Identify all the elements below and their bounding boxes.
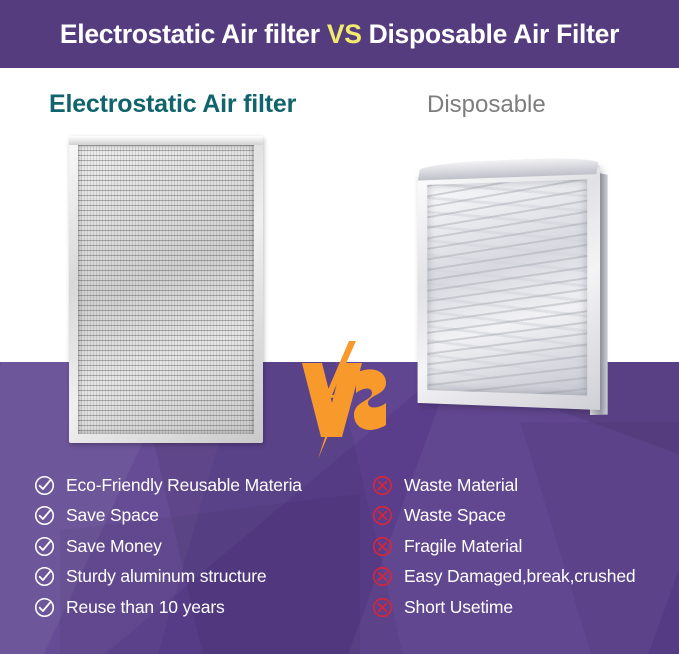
list-item-label: Short Usetime bbox=[404, 599, 513, 617]
list-item: Save Space bbox=[33, 501, 339, 532]
infographic-page: Electrostatic Air filter VS Disposable A… bbox=[0, 0, 679, 654]
list-item: Fragile Material bbox=[371, 531, 678, 562]
list-item-label: Sturdy aluminum structure bbox=[66, 568, 267, 586]
list-item-label: Save Space bbox=[66, 507, 159, 525]
list-item-label: Waste Material bbox=[404, 477, 518, 495]
electrostatic-filter-image bbox=[69, 136, 263, 443]
check-circle-icon bbox=[33, 505, 55, 527]
list-item-label: Reuse than 10 years bbox=[66, 599, 225, 617]
list-item: Waste Material bbox=[371, 470, 678, 501]
x-circle-icon bbox=[371, 505, 393, 527]
page-title-right: Disposable Air Filter bbox=[362, 19, 619, 49]
filter-mesh bbox=[78, 145, 254, 434]
list-item: Reuse than 10 years bbox=[33, 592, 339, 623]
list-item-label: Eco-Friendly Reusable Materia bbox=[66, 477, 302, 495]
vs-letters bbox=[302, 363, 386, 437]
x-circle-icon bbox=[371, 566, 393, 588]
lightning-bolt-icon bbox=[294, 341, 388, 459]
vs-badge bbox=[294, 341, 388, 459]
pros-list: Eco-Friendly Reusable Materia Save Space bbox=[0, 470, 339, 623]
check-circle-icon bbox=[33, 596, 55, 618]
page-title: Electrostatic Air filter VS Disposable A… bbox=[60, 21, 619, 48]
check-circle-icon bbox=[33, 535, 55, 557]
cons-list: Waste Material Waste Space bbox=[339, 470, 678, 623]
list-item: Easy Damaged,break,crushed bbox=[371, 562, 678, 593]
x-circle-icon bbox=[371, 596, 393, 618]
check-circle-icon bbox=[33, 474, 55, 496]
list-item-label: Save Money bbox=[66, 538, 162, 556]
left-product-subtitle: Electrostatic Air filter bbox=[49, 90, 296, 119]
filter-fiber-media bbox=[427, 179, 587, 395]
header-band: Electrostatic Air filter VS Disposable A… bbox=[0, 0, 679, 68]
list-item: Sturdy aluminum structure bbox=[33, 562, 339, 593]
list-item-label: Waste Space bbox=[404, 507, 506, 525]
feature-lists: Eco-Friendly Reusable Materia Save Space bbox=[0, 470, 679, 623]
list-item: Save Money bbox=[33, 531, 339, 562]
list-item: Short Usetime bbox=[371, 592, 678, 623]
x-circle-icon bbox=[371, 535, 393, 557]
check-circle-icon bbox=[33, 566, 55, 588]
list-item-label: Fragile Material bbox=[404, 538, 522, 556]
list-item: Waste Space bbox=[371, 501, 678, 532]
filter-frame-highlight bbox=[69, 136, 263, 145]
filter-front-panel bbox=[418, 165, 600, 410]
list-item: Eco-Friendly Reusable Materia bbox=[33, 470, 339, 501]
page-title-left: Electrostatic Air filter bbox=[60, 19, 327, 49]
list-item-label: Easy Damaged,break,crushed bbox=[404, 568, 636, 586]
right-product-subtitle: Disposable bbox=[427, 91, 546, 119]
x-circle-icon bbox=[371, 474, 393, 496]
page-title-vs: VS bbox=[327, 19, 362, 49]
disposable-filter-image bbox=[404, 165, 610, 418]
